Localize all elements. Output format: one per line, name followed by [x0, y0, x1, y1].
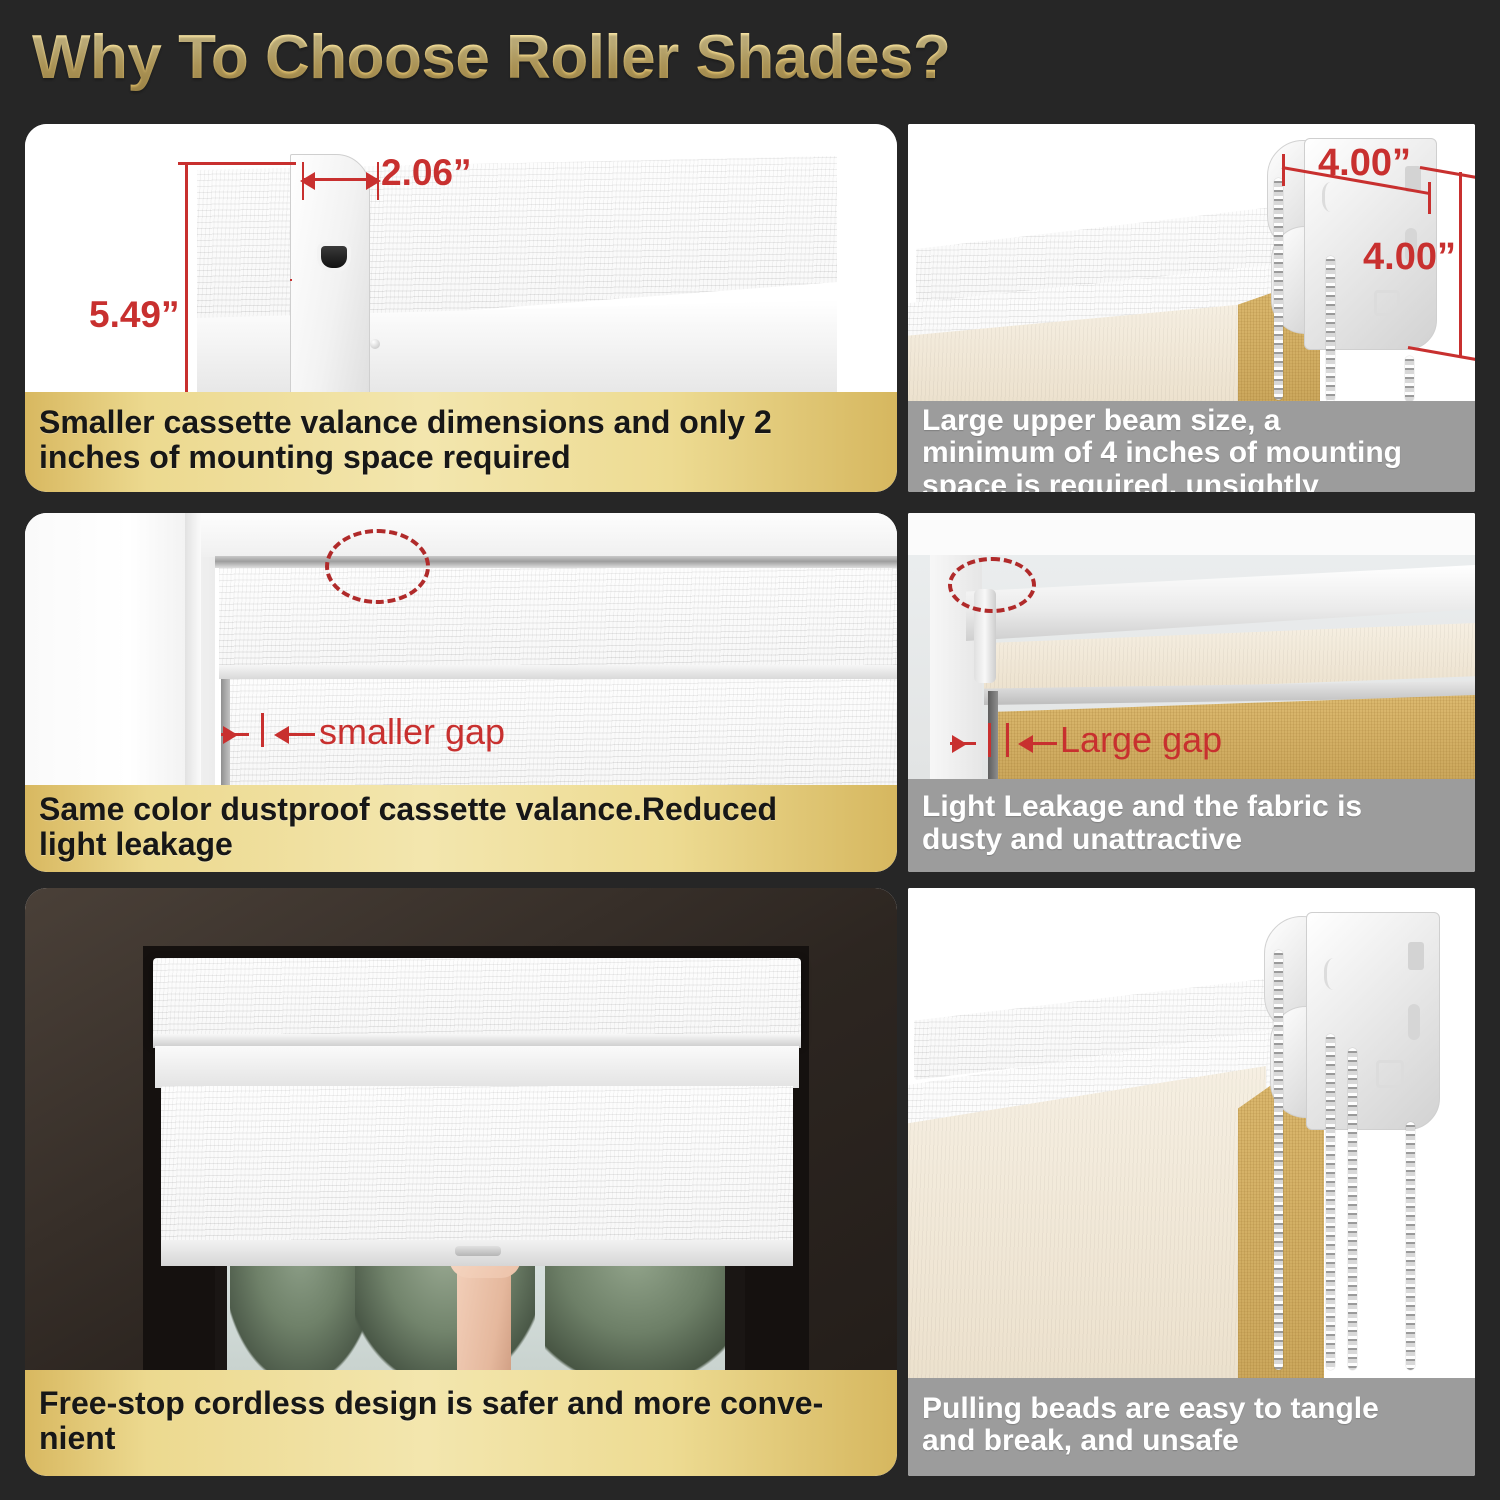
dim-h-anchor	[290, 279, 292, 281]
caption-line-2: light leakage	[39, 827, 777, 862]
dim-w-arrow-right	[366, 172, 381, 190]
panel-large-gap: Large gap Light Leakage and the fabric i…	[908, 513, 1475, 872]
gap-arrow-left	[274, 726, 289, 744]
bracket-slot-icon	[321, 246, 347, 268]
shade-fabric-upper	[219, 568, 897, 666]
bead-chain-1[interactable]	[1274, 950, 1283, 1370]
caption-line-1: Light Leakage and the fabric is	[922, 791, 1362, 823]
shade-fabric	[161, 1086, 793, 1246]
caption-line-2: nient	[39, 1421, 823, 1456]
panel-smaller-gap-caption: Same color dustproof cassette valance.Re…	[25, 785, 897, 872]
caption-line-2: dusty and unattractive	[922, 824, 1362, 856]
bead-chain-2[interactable]	[1326, 1034, 1335, 1370]
valance-front-lip	[155, 1046, 799, 1088]
smaller-gap-photo: smaller gap	[25, 513, 897, 785]
beam-width-label: 4.00”	[1318, 142, 1411, 185]
gap-tick	[261, 713, 264, 747]
gap-arrow-left-stem	[1033, 742, 1057, 745]
valance-head-rail	[215, 556, 897, 568]
bracket-swirl-icon	[1324, 958, 1348, 990]
infographic-root: Why To Choose Roller Shades? 2.06”	[0, 0, 1500, 1500]
bead-chain-2	[1326, 256, 1335, 401]
bracket-pin-icon	[370, 339, 380, 349]
caption-line-2: inches of mounting space required	[39, 440, 772, 475]
caption-line-1: Smaller cassette valance dimensions and …	[39, 405, 772, 440]
valance-lip	[219, 665, 897, 679]
large-upper-beam-photo: 4.00” 4.00”	[908, 124, 1475, 401]
smaller-gap-label: smaller gap	[319, 711, 505, 753]
bead-chain-1	[1274, 178, 1283, 400]
dim-w-tick-right	[1428, 182, 1431, 214]
bead-chain-3[interactable]	[1348, 1048, 1357, 1370]
panel-large-gap-caption: Light Leakage and the fabric is dusty an…	[908, 779, 1475, 872]
large-gap-photo: Large gap	[908, 513, 1475, 779]
cordless-design-photo	[25, 888, 897, 1370]
bracket-square-icon	[1374, 290, 1400, 316]
dim-h-cap-top	[178, 162, 296, 165]
page-title: Why To Choose Roller Shades?	[32, 22, 950, 93]
bracket-slot-icon	[1408, 1004, 1420, 1040]
gap-arrow-right-stem	[950, 742, 976, 745]
caption-line-2: minimum of 4 inches of mounting	[922, 437, 1402, 469]
gap-arrow-left	[1018, 735, 1033, 753]
dim-w-arrow-left	[300, 172, 315, 190]
shade-pull-handle[interactable]	[455, 1246, 501, 1256]
caption-line-3: space is required, unsightly	[922, 470, 1402, 492]
width-dimension-label: 2.06”	[381, 152, 472, 194]
bead-chain-3	[1405, 356, 1414, 401]
panel-large-upper-beam-caption: Large upper beam size, a minimum of 4 in…	[908, 401, 1475, 492]
dim-h-line	[185, 162, 188, 392]
caption-line-1: Same color dustproof cassette valance.Re…	[39, 792, 777, 827]
cassette-dimensions-photo: 2.06” 5.49”	[25, 124, 897, 392]
caption-line-2: and break, and unsafe	[922, 1425, 1379, 1457]
gap-tick-1	[988, 723, 991, 757]
dim-h-cap-bottom	[1408, 346, 1475, 365]
window-frame-top	[201, 513, 897, 557]
panel-cassette-dimensions: 2.06” 5.49” Smaller cassette valance dim…	[25, 124, 897, 492]
cassette-valance	[153, 958, 801, 1040]
bead-chain-4[interactable]	[1406, 1122, 1415, 1370]
panel-pulling-beads-caption: Pulling beads are easy to tangle and bre…	[908, 1378, 1475, 1476]
window-frame-top	[908, 513, 1475, 555]
dim-w-tick-left	[1282, 154, 1285, 186]
caption-line-1: Free-stop cordless design is safer and m…	[39, 1386, 823, 1421]
bracket-swirl-icon	[1322, 182, 1344, 212]
panel-cassette-dimensions-caption: Smaller cassette valance dimensions and …	[25, 392, 897, 492]
beam-height-label: 4.00”	[1363, 236, 1456, 279]
bracket-square-icon	[1376, 1060, 1404, 1088]
panel-pulling-beads: Pulling beads are easy to tangle and bre…	[908, 888, 1475, 1476]
panel-large-upper-beam: 4.00” 4.00” Large upper beam size, a min…	[908, 124, 1475, 492]
large-gap-label: Large gap	[1060, 719, 1222, 761]
caption-line-1: Pulling beads are easy to tangle	[922, 1393, 1379, 1425]
height-dimension-label: 5.49”	[85, 294, 184, 336]
gap-arrow-right-stem	[221, 733, 249, 736]
pulling-beads-photo	[908, 888, 1475, 1378]
caption-line-1: Large upper beam size, a	[922, 405, 1402, 437]
bracket-notch-top-icon	[1408, 942, 1424, 970]
gap-highlight-ring	[948, 557, 1036, 613]
gap-arrow-left-stem	[289, 733, 315, 736]
dim-h-line	[1459, 172, 1462, 356]
window-frame-edge	[185, 513, 201, 785]
panel-cordless-design: Free-stop cordless design is safer and m…	[25, 888, 897, 1476]
panel-cordless-design-caption: Free-stop cordless design is safer and m…	[25, 1370, 897, 1476]
panel-smaller-gap: smaller gap Same color dustproof cassett…	[25, 513, 897, 872]
gap-highlight-ring-visible	[325, 529, 430, 604]
gap-tick-2	[1006, 723, 1009, 757]
